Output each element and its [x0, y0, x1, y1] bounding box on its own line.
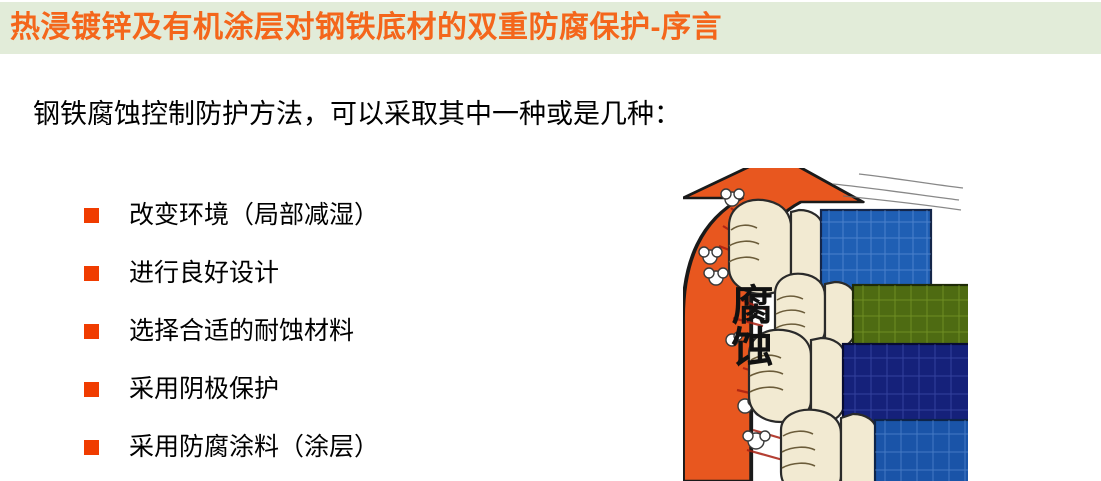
- list-item-label: 改变环境（局部减湿）: [129, 203, 379, 228]
- list-item-label: 采用阴极保护: [129, 377, 279, 402]
- list-item: 改变环境（局部减湿）: [84, 186, 379, 244]
- lead-paragraph: 钢铁腐蚀控制防护方法，可以采取其中一种或是几种：: [33, 98, 681, 130]
- square-bullet-icon: [84, 266, 99, 281]
- slide-body: 钢铁腐蚀控制防护方法，可以采取其中一种或是几种： 改变环境（局部减湿） 进行良好…: [0, 54, 1101, 481]
- corrosion-arrow-label: 腐蚀: [721, 283, 771, 367]
- list-item: 采用阴极保护: [84, 360, 379, 418]
- methods-bullet-list: 改变环境（局部减湿） 进行良好设计 选择合适的耐蚀材料 采用阴极保护 采用防腐涂…: [84, 186, 379, 476]
- page-title: 热浸镀锌及有机涂层对钢铁底材的双重防腐保护-序言: [10, 13, 722, 43]
- square-bullet-icon: [84, 208, 99, 223]
- square-bullet-icon: [84, 324, 99, 339]
- slide-title-band: 热浸镀锌及有机涂层对钢铁底材的双重防腐保护-序言: [0, 2, 1101, 54]
- list-item: 选择合适的耐蚀材料: [84, 302, 379, 360]
- sleeve-4: [875, 420, 968, 481]
- square-bullet-icon: [84, 382, 99, 397]
- list-item-label: 采用防腐涂料（涂层）: [129, 435, 379, 460]
- list-item: 进行良好设计: [84, 244, 379, 302]
- list-item-label: 选择合适的耐蚀材料: [129, 319, 354, 344]
- corrosion-arrow-fists-illustration: 腐蚀: [683, 168, 968, 481]
- fist-4: [781, 410, 968, 481]
- square-bullet-icon: [84, 440, 99, 455]
- list-item: 采用防腐涂料（涂层）: [84, 418, 379, 476]
- list-item-label: 进行良好设计: [129, 261, 279, 286]
